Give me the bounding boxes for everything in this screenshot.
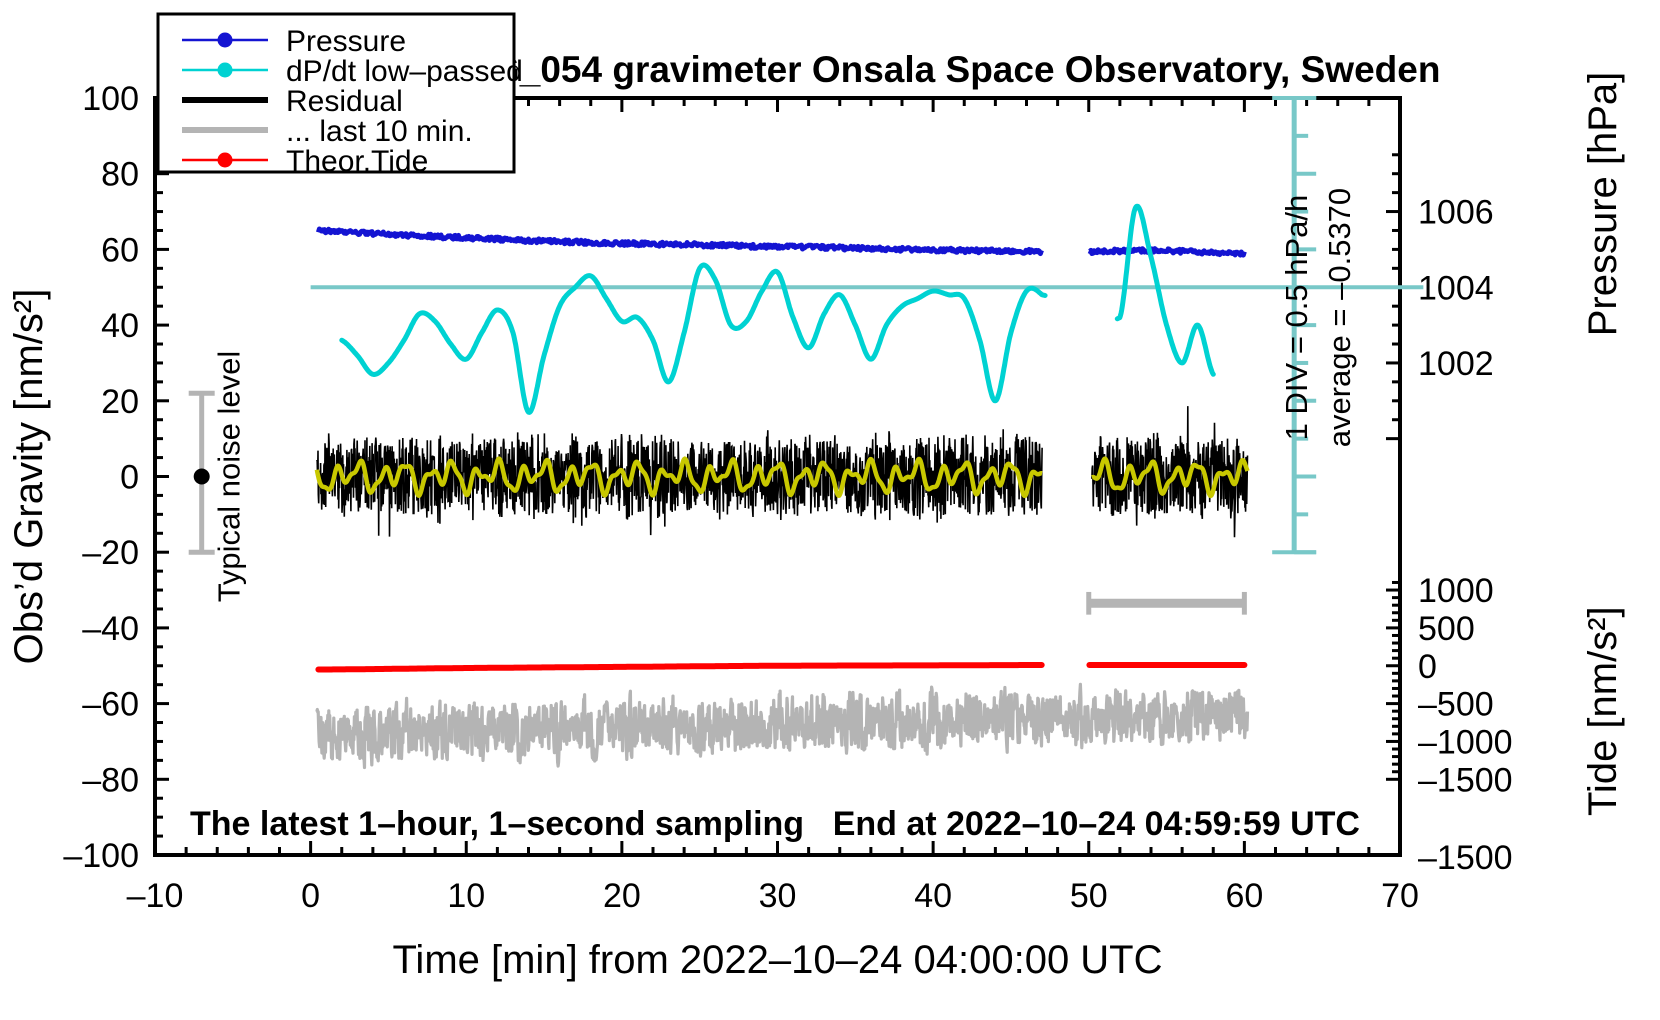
page-title: SCG_054 gravimeter Onsala Space Observat… xyxy=(440,49,1441,90)
tide-tick-label-min: –1500 xyxy=(1418,839,1513,877)
legend-label-0: Pressure xyxy=(286,25,406,58)
tide-tick-label: 500 xyxy=(1418,610,1475,648)
legend-marker-4 xyxy=(218,153,233,168)
legend-label-3: ... last 10 min. xyxy=(286,115,473,148)
legend-label-1: dP/dt low–passed xyxy=(286,55,523,88)
pressure-tick-label: 1004 xyxy=(1418,269,1494,307)
x-tick-label: 20 xyxy=(603,877,641,915)
tide-tick-label: 1000 xyxy=(1418,572,1494,610)
dpdt-average-label: average = –0.5370 xyxy=(1322,188,1357,447)
y-axis-label-left: Obs’d Gravity [nm/s²] xyxy=(7,289,51,665)
footer-right-text: End at 2022–10–24 04:59:59 UTC xyxy=(833,805,1360,843)
legend-marker-1 xyxy=(218,63,233,78)
footer-left-text: The latest 1–hour, 1–second sampling xyxy=(190,805,804,843)
y-tick-label: –60 xyxy=(82,686,139,724)
chart-root: –10010203040506070Time [min] from 2022–1… xyxy=(0,0,1660,1020)
noise-level-label: Typical noise level xyxy=(212,351,247,603)
y-tick-label: 0 xyxy=(120,459,139,497)
y-axis-label-tide: Tide [nm/s²] xyxy=(1581,606,1625,816)
tide-tick-label: –1000 xyxy=(1418,723,1513,761)
tide-tick-label: 0 xyxy=(1418,648,1437,686)
legend-label-4: Theor.Tide xyxy=(286,145,428,178)
x-tick-label: 70 xyxy=(1381,877,1419,915)
pressure-tick-label: 1006 xyxy=(1418,194,1494,232)
x-tick-label: 50 xyxy=(1070,877,1108,915)
y-tick-label: 40 xyxy=(101,307,139,345)
tide-tick-label: –500 xyxy=(1418,686,1494,724)
x-tick-label: 0 xyxy=(301,877,320,915)
legend: PressuredP/dt low–passedResidual... last… xyxy=(158,14,523,178)
dpdt-scale-label: 1 DIV = 0.5 hPa/h xyxy=(1279,195,1314,441)
x-axis-label: Time [min] from 2022–10–24 04:00:00 UTC xyxy=(392,938,1162,982)
y-axis-label-pressure: Pressure [hPa] xyxy=(1581,72,1625,337)
legend-marker-0 xyxy=(218,33,233,48)
tide-tick-label: –1500 xyxy=(1418,761,1513,799)
y-tick-label: –100 xyxy=(63,837,139,875)
x-tick-label: –10 xyxy=(127,877,184,915)
legend-label-2: Residual xyxy=(286,85,403,118)
x-tick-label: 40 xyxy=(914,877,952,915)
y-tick-label: –20 xyxy=(82,534,139,572)
y-tick-label: 20 xyxy=(101,383,139,421)
x-tick-label: 60 xyxy=(1225,877,1263,915)
gravimeter-plot: –10010203040506070Time [min] from 2022–1… xyxy=(0,0,1660,1020)
noise-bar-center-dot xyxy=(194,469,210,485)
x-tick-label: 10 xyxy=(447,877,485,915)
y-tick-label: 80 xyxy=(101,156,139,194)
y-tick-label: 100 xyxy=(82,80,139,118)
x-tick-label: 30 xyxy=(759,877,797,915)
y-tick-label: –80 xyxy=(82,761,139,799)
y-tick-label: 60 xyxy=(101,231,139,269)
pressure-tick-label: 1002 xyxy=(1418,345,1494,383)
y-tick-label: –40 xyxy=(82,610,139,648)
